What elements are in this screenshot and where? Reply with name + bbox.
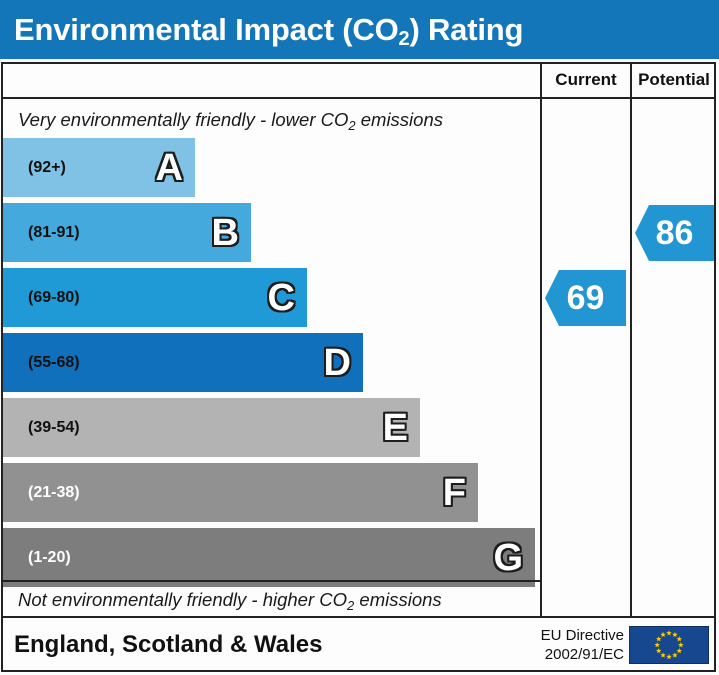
epc-environmental-impact-chart: Environmental Impact (CO2) Rating Curren… xyxy=(0,0,719,675)
band-range-label: (69-80) xyxy=(3,289,80,307)
band-range-label: (21-38) xyxy=(3,484,80,502)
rating-band-c: (69-80)C xyxy=(3,268,307,327)
caption-bottom-prefix: Not environmentally friendly - higher CO xyxy=(18,589,347,610)
title-prefix: Environmental Impact (CO xyxy=(14,12,399,47)
chart-title-bar: Environmental Impact (CO2) Rating xyxy=(0,0,719,59)
caption-not-friendly: Not environmentally friendly - higher CO… xyxy=(18,589,442,611)
rating-band-f: (21-38)F xyxy=(3,463,478,522)
band-letter-label: F xyxy=(443,474,466,512)
column-header-current: Current xyxy=(540,62,630,97)
caption-bottom-subscript: 2 xyxy=(347,598,354,613)
rating-band-e: (39-54)E xyxy=(3,398,420,457)
rating-band-b: (81-91)B xyxy=(3,203,251,262)
column-header-potential: Potential xyxy=(630,62,716,97)
eu-directive-line1: EU Directive xyxy=(541,626,624,645)
band-letter-label: D xyxy=(324,344,351,382)
title-subscript: 2 xyxy=(399,28,410,50)
band-range-label: (81-91) xyxy=(3,224,80,242)
table-header-row: Current Potential xyxy=(1,62,716,99)
chart-footer: England, Scotland & Wales EU Directive 2… xyxy=(1,618,716,672)
rating-band-a: (92+)A xyxy=(3,138,195,197)
band-range-label: (1-20) xyxy=(3,549,71,567)
band-letter-label: G xyxy=(493,539,523,577)
band-letter-label: B xyxy=(212,214,239,252)
title-suffix: ) Rating xyxy=(409,12,523,47)
band-letter-label: C xyxy=(268,279,295,317)
eu-directive-line2: 2002/91/EC xyxy=(541,645,624,664)
eu-flag-stars xyxy=(630,627,708,663)
band-letter-label: A xyxy=(156,149,183,187)
potential-rating-badge: 86 xyxy=(635,205,714,261)
caption-top-subscript: 2 xyxy=(348,118,355,133)
band-range-label: (92+) xyxy=(3,159,66,177)
caption-top-prefix: Very environmentally friendly - lower CO xyxy=(18,109,348,130)
current-rating-badge: 69 xyxy=(545,270,626,326)
page-title: Environmental Impact (CO2) Rating xyxy=(0,12,523,48)
caption-bottom-suffix: emissions xyxy=(354,589,441,610)
band-range-label: (39-54) xyxy=(3,419,80,437)
footer-region-label: England, Scotland & Wales xyxy=(1,631,322,659)
caption-divider xyxy=(3,580,540,582)
band-letter-label: E xyxy=(383,409,408,447)
rating-band-d: (55-68)D xyxy=(3,333,363,392)
column-divider-current xyxy=(540,99,542,616)
rating-band-g: (1-20)G xyxy=(3,528,535,587)
caption-very-friendly: Very environmentally friendly - lower CO… xyxy=(18,109,443,131)
eu-flag-icon xyxy=(629,626,709,664)
caption-top-suffix: emissions xyxy=(356,109,443,130)
eu-directive-text: EU Directive 2002/91/EC xyxy=(541,626,624,664)
band-range-label: (55-68) xyxy=(3,354,80,372)
column-divider-potential xyxy=(630,99,632,616)
